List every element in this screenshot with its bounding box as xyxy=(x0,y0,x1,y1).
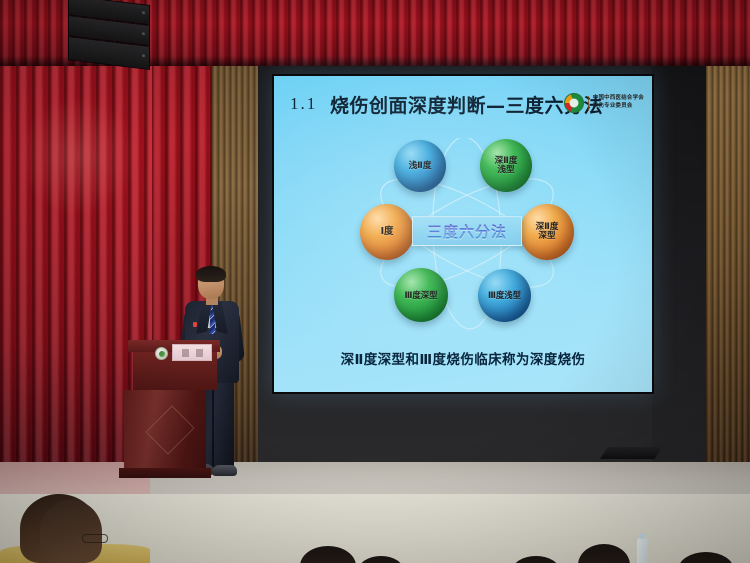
slide-footer-note: 深Ⅱ度深型和Ⅲ度烧伤临床称为深度烧伤 xyxy=(274,348,652,368)
organization-line-1: 中国中西医结合学会 xyxy=(593,95,644,103)
presenter-hair xyxy=(196,266,226,282)
node-deep-2nd-deep[interactable]: 深Ⅱ度 深型 xyxy=(520,204,574,260)
diagram-center-label: 三度六分法 xyxy=(427,221,507,242)
presenter-leg-split xyxy=(212,386,214,466)
node-3rd-deep[interactable]: Ⅲ度深型 xyxy=(394,268,448,322)
node-shallow-2nd[interactable]: 浅Ⅱ度 xyxy=(394,140,446,192)
curtain-light-glow xyxy=(18,96,138,216)
node-3rd-shallow[interactable]: Ⅲ度浅型 xyxy=(478,269,531,322)
audience-member-1-head xyxy=(40,500,102,563)
projection-screen[interactable]: 1.1 烧伤创面深度判断—三度六分法 中国中西医结合学会 烧伤专业委员会 xyxy=(272,74,654,394)
presenter-shoe-right xyxy=(212,465,237,476)
logo-divider xyxy=(588,96,589,111)
node-deep-2nd-shallow-label-2: 浅型 xyxy=(495,166,518,175)
audience-member-1-glasses-icon xyxy=(82,534,108,543)
node-shallow-2nd-label: 浅Ⅱ度 xyxy=(409,162,432,171)
slide-title: 烧伤创面深度判断—三度六分法 xyxy=(330,91,603,118)
slide-header: 1.1 烧伤创面深度判断—三度六分法 中国中西医结合学会 烧伤专业委员会 xyxy=(274,90,652,130)
node-deep-2nd-shallow[interactable]: 深Ⅱ度 浅型 xyxy=(480,139,532,192)
water-bottle xyxy=(637,538,648,563)
podium-base xyxy=(119,468,211,478)
organization-logo: 中国中西医结合学会 烧伤专业委员会 xyxy=(564,93,644,113)
society-emblem-icon xyxy=(564,93,584,113)
organization-line-2: 烧伤专业委员会 xyxy=(593,103,644,111)
diagram-center-box: 三度六分法 xyxy=(412,216,522,246)
six-degree-diagram: 浅Ⅱ度 深Ⅱ度 浅型 深Ⅱ度 深型 Ⅰ度 xyxy=(352,138,582,333)
node-1st-degree[interactable]: Ⅰ度 xyxy=(360,204,414,260)
podium-diamond-inlay xyxy=(146,406,195,455)
node-3rd-shallow-label: Ⅲ度浅型 xyxy=(488,291,521,300)
presentation-slide: 1.1 烧伤创面深度判断—三度六分法 中国中西医结合学会 烧伤专业委员会 xyxy=(274,76,652,392)
line-array-speaker xyxy=(68,0,154,72)
floor-monitor-speaker xyxy=(600,447,662,459)
node-deep-2nd-deep-label-2: 深型 xyxy=(536,232,559,241)
podium-body-lower xyxy=(124,390,206,472)
node-3rd-deep-label: Ⅲ度深型 xyxy=(404,291,437,300)
auditorium-scene: 1.1 烧伤创面深度判断—三度六分法 中国中西医结合学会 烧伤专业委员会 xyxy=(0,0,750,563)
slide-section-number: 1.1 xyxy=(290,94,317,114)
wood-slat-strip-right xyxy=(706,0,750,470)
podium-emblem-icon xyxy=(155,347,168,360)
organization-name: 中国中西医结合学会 烧伤专业委员会 xyxy=(593,95,644,110)
presenter-lapel-badge xyxy=(193,322,197,327)
podium-nameplate xyxy=(172,344,212,361)
node-1st-degree-label: Ⅰ度 xyxy=(381,227,394,237)
